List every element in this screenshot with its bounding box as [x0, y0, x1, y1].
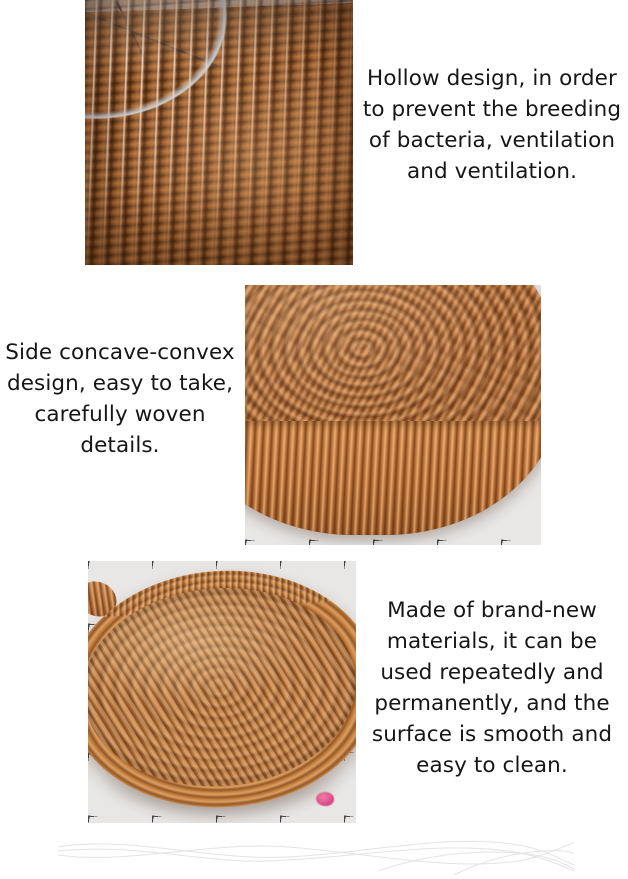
- caption-brand-new-materials: Made of brand-new materials, it can be u…: [358, 596, 626, 782]
- wave-divider-icon: [58, 831, 574, 875]
- basket-body: [245, 285, 541, 535]
- pink-object: [316, 792, 334, 806]
- infographic-page: Hollow design, in order to prevent the b…: [0, 0, 628, 879]
- photo-basket-rim-and-foot: [245, 285, 541, 545]
- interior-lighting: [88, 579, 356, 796]
- photo-vignette: [85, 0, 353, 265]
- caption-side-concave-convex: Side concave-convex design, easy to take…: [2, 338, 238, 462]
- basket-interior: [88, 579, 356, 796]
- caption-hollow-design: Hollow design, in order to prevent the b…: [358, 64, 626, 188]
- photo-oval-basket-topdown: [88, 561, 356, 823]
- basket-body: [88, 561, 356, 818]
- photo-hollow-weave-macro: [85, 0, 353, 265]
